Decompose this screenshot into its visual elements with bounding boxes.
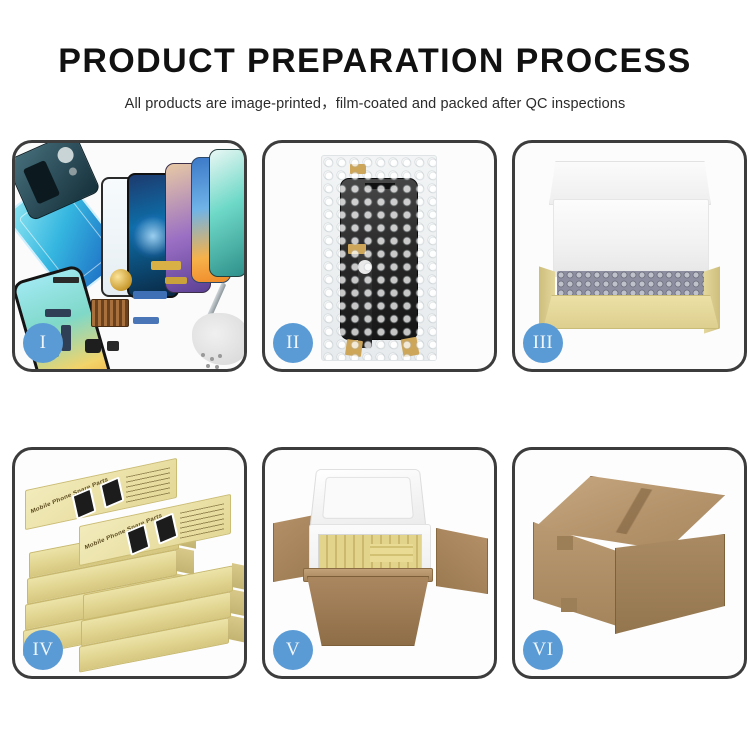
- connector-bracket-1: [45, 309, 71, 317]
- flex-cable-3: [133, 291, 167, 299]
- box-front-panel: [543, 295, 719, 329]
- logic-board-component: [91, 299, 129, 327]
- screws-group: [201, 353, 225, 369]
- vibration-motor: [107, 341, 119, 351]
- carton-body: [307, 576, 429, 646]
- process-step-3: III: [512, 140, 747, 372]
- box-feature-list: [180, 503, 224, 538]
- product-preparation-infographic: PRODUCT PREPARATION PROCESS All products…: [0, 0, 750, 750]
- phone-display-teal: [209, 149, 244, 277]
- flex-cable-5: [133, 317, 159, 324]
- process-step-1: I: [12, 140, 247, 372]
- page-subtitle: All products are image-printed，film-coat…: [0, 92, 750, 113]
- flex-cable-1: [151, 261, 181, 270]
- screen-assembly: [340, 178, 418, 340]
- process-steps-grid: I II: [12, 140, 738, 685]
- step-badge-1: I: [23, 323, 63, 363]
- styrofoam-lid: [309, 469, 426, 528]
- bubble-wrap-bag: [321, 155, 437, 361]
- flex-cable-2: [165, 277, 187, 284]
- tape-strip-middle: [348, 244, 366, 254]
- step-badge-5: V: [273, 630, 313, 670]
- carton-flap-right: [436, 528, 488, 594]
- speaker-component: [110, 269, 132, 291]
- inner-boxes-row: [318, 534, 422, 572]
- step-badge-2: II: [273, 323, 313, 363]
- carton-right-face: [615, 534, 725, 634]
- box-feature-list: [126, 467, 170, 502]
- carton-tape-lower: [561, 598, 577, 612]
- step-badge-3: III: [523, 323, 563, 363]
- header: PRODUCT PREPARATION PROCESS All products…: [0, 0, 750, 113]
- foam-sheet: [553, 199, 709, 277]
- connector-dot: [358, 260, 372, 274]
- flex-cable-4: [53, 277, 79, 283]
- carton-tape-upper: [557, 536, 573, 550]
- process-step-5: V: [262, 447, 497, 679]
- process-step-6: VI: [512, 447, 747, 679]
- process-step-2: II: [262, 140, 497, 372]
- page-title: PRODUCT PREPARATION PROCESS: [0, 44, 750, 80]
- tape-strip-top: [350, 164, 366, 174]
- step-badge-4: IV: [23, 630, 63, 670]
- camera-module: [85, 339, 101, 353]
- tape-strip-bottom-right: [401, 337, 420, 358]
- process-step-4: Mobile Phone Spare Parts Mobile Phone Sp…: [12, 447, 247, 679]
- tape-strip-bottom-left: [345, 339, 363, 357]
- inner-boxes-row-2: [370, 544, 413, 562]
- step-badge-6: VI: [523, 630, 563, 670]
